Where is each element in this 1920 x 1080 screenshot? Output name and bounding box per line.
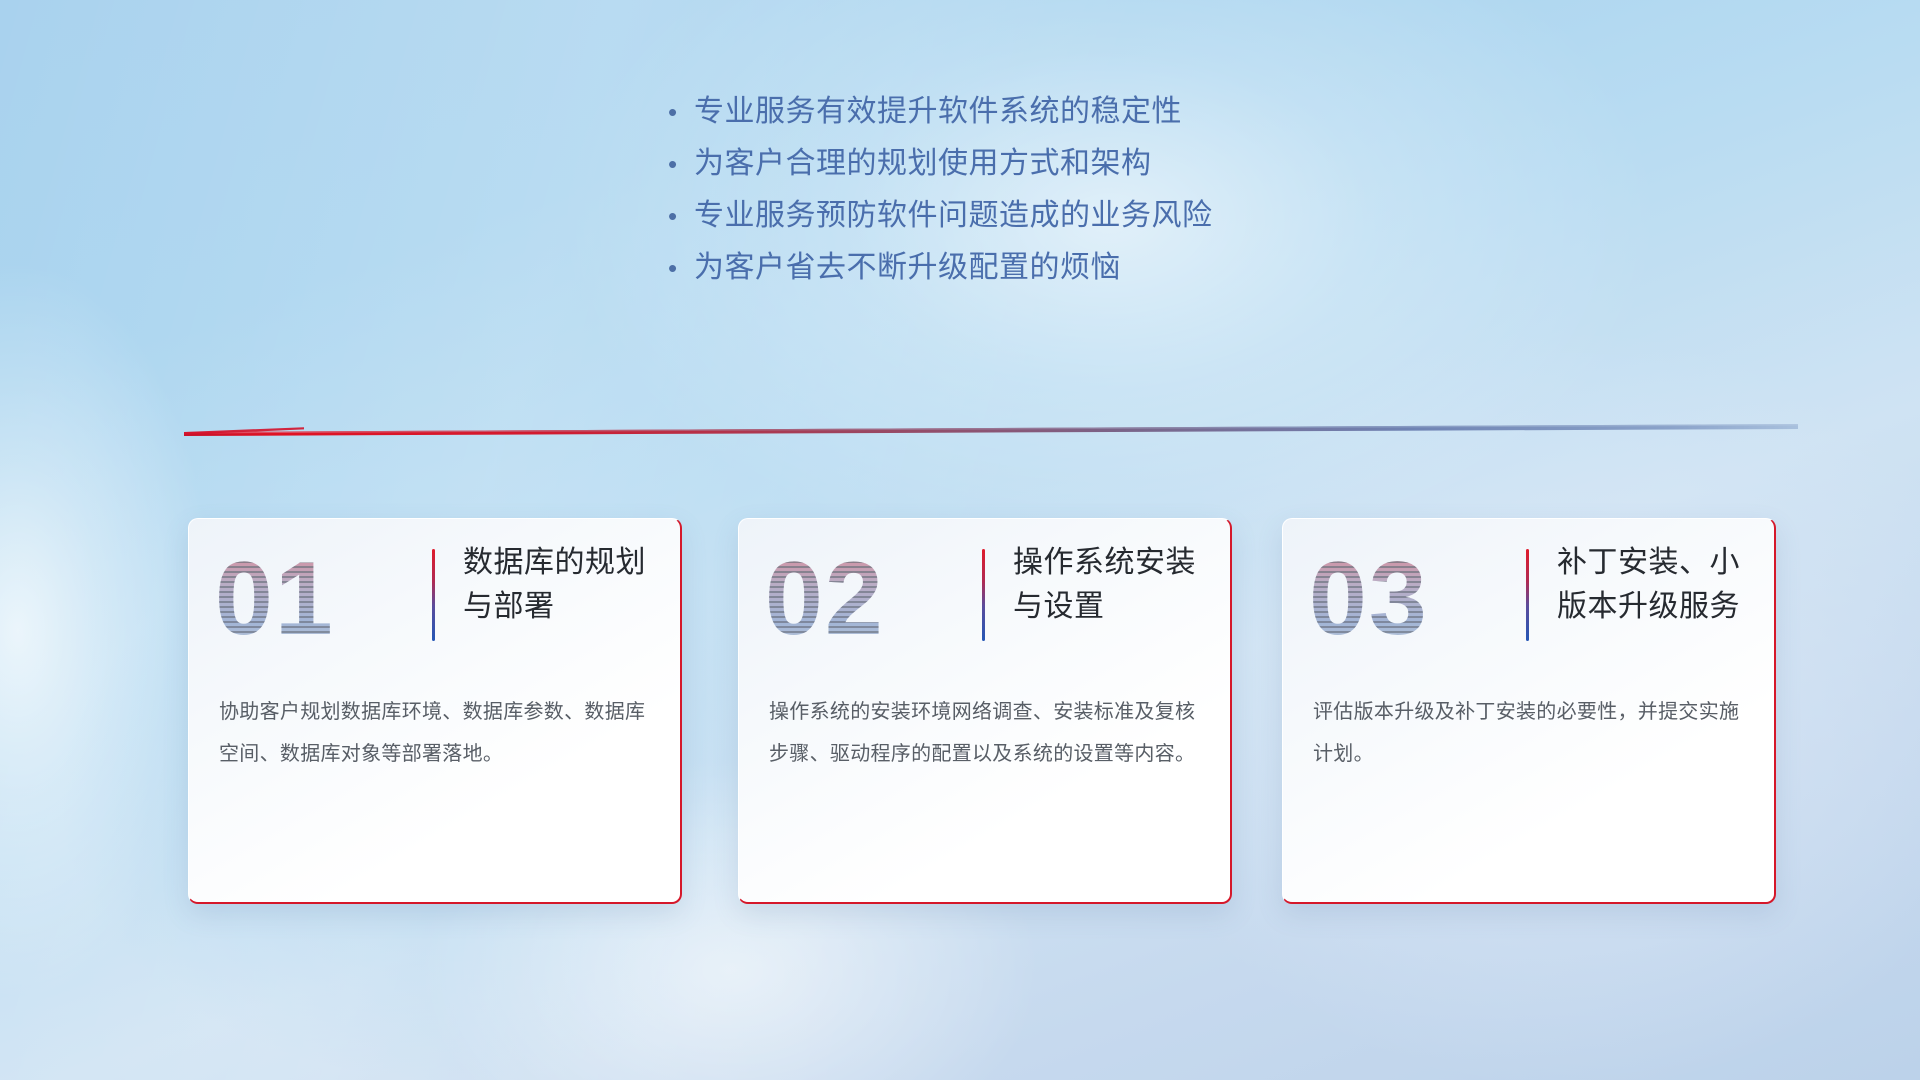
bullet-text: 专业服务有效提升软件系统的稳定性: [694, 86, 1182, 130]
bullet-marker-icon: •: [668, 203, 694, 229]
section-divider: [184, 416, 1798, 438]
bullet-marker-icon: •: [668, 99, 694, 125]
card-header: 01 数据库的规划与部署: [189, 519, 680, 669]
card-accent-bar: [1526, 549, 1529, 641]
bullet-text: 专业服务预防软件问题造成的业务风险: [694, 190, 1213, 234]
list-item: • 专业服务预防软件问题造成的业务风险: [668, 190, 1213, 242]
card-header: 02 操作系统安装与设置: [739, 519, 1230, 669]
list-item: • 专业服务有效提升软件系统的稳定性: [668, 86, 1213, 138]
card-description: 协助客户规划数据库环境、数据库参数、数据库空间、数据库对象等部署落地。: [219, 691, 652, 775]
card-description: 操作系统的安装环境网络调查、安装标准及复核步骤、驱动程序的配置以及系统的设置等内…: [769, 691, 1202, 775]
card-number-watermark: 03: [1309, 541, 1499, 657]
card-accent-bar: [982, 549, 985, 641]
list-item: • 为客户合理的规划使用方式和架构: [668, 138, 1213, 190]
card-number-text: 02: [765, 541, 955, 657]
card-number-watermark: 01: [215, 541, 405, 657]
card-number-text: 03: [1309, 541, 1499, 657]
bullet-text: 为客户合理的规划使用方式和架构: [694, 138, 1152, 182]
card-title: 操作系统安装与设置: [1013, 541, 1213, 629]
bullet-text: 为客户省去不断升级配置的烦恼: [694, 242, 1121, 286]
service-cards: 01 数据库的规划与部署 协助客户规划数据库环境、数据库参数、数据库空间、数据库…: [0, 518, 1920, 918]
service-card-02[interactable]: 02 操作系统安装与设置 操作系统的安装环境网络调查、安装标准及复核步骤、驱动程…: [738, 518, 1232, 904]
list-item: • 为客户省去不断升级配置的烦恼: [668, 242, 1213, 294]
card-accent-bar: [432, 549, 435, 641]
card-number-watermark: 02: [765, 541, 955, 657]
divider-line-icon: [184, 416, 1798, 438]
card-title: 数据库的规划与部署: [463, 541, 663, 629]
bullet-marker-icon: •: [668, 255, 694, 281]
bullet-marker-icon: •: [668, 151, 694, 177]
service-card-03[interactable]: 03 补丁安装、小版本升级服务 评估版本升级及补丁安装的必要性，并提交实施计划。: [1282, 518, 1776, 904]
card-description: 评估版本升级及补丁安装的必要性，并提交实施计划。: [1313, 691, 1746, 775]
card-title: 补丁安装、小版本升级服务: [1557, 541, 1757, 629]
benefits-bullet-list: • 专业服务有效提升软件系统的稳定性 • 为客户合理的规划使用方式和架构 • 专…: [668, 86, 1213, 294]
card-number-text: 01: [215, 541, 405, 657]
card-header: 03 补丁安装、小版本升级服务: [1283, 519, 1774, 669]
service-card-01[interactable]: 01 数据库的规划与部署 协助客户规划数据库环境、数据库参数、数据库空间、数据库…: [188, 518, 682, 904]
